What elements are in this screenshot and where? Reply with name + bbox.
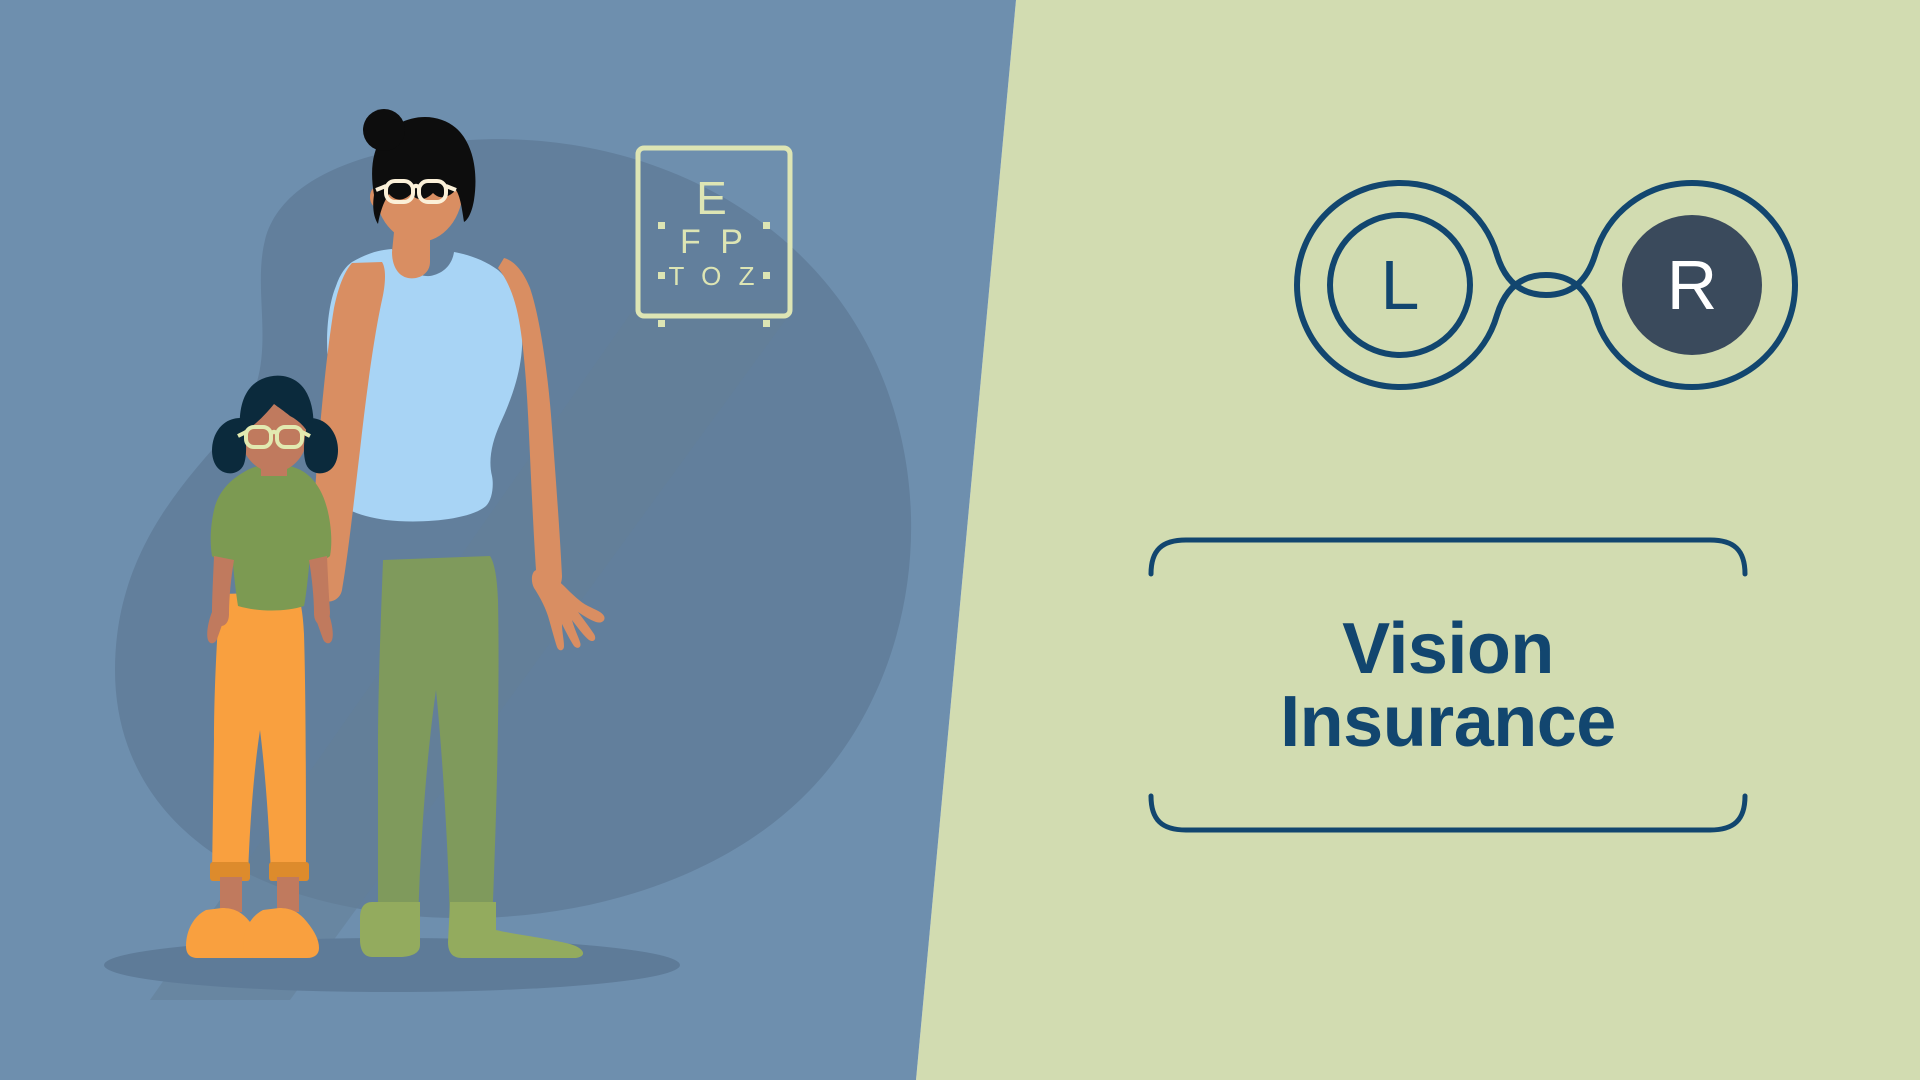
title-line-2: Insurance bbox=[1280, 686, 1616, 759]
left-lens-label: L bbox=[1381, 246, 1420, 324]
right-lens-label: R bbox=[1667, 246, 1718, 324]
adult-hair-bun bbox=[363, 109, 405, 151]
child-ankle-left bbox=[220, 877, 242, 912]
eye-chart-row-1: E bbox=[696, 175, 732, 221]
title-block: Vision Insurance bbox=[1148, 538, 1748, 834]
adult-shoe-left bbox=[360, 902, 420, 957]
eye-chart-row-3: T O Z bbox=[669, 263, 760, 289]
chart-dot bbox=[658, 320, 665, 327]
chart-dot bbox=[763, 320, 770, 327]
poster-canvas: L R Vision Insurance E F P T O Z bbox=[0, 0, 1920, 1080]
child-ankle-right bbox=[277, 877, 299, 912]
title-line-1: Vision bbox=[1342, 613, 1554, 686]
eye-chart-row-2: F P bbox=[680, 225, 748, 259]
eye-chart-letters: E F P T O Z bbox=[638, 148, 790, 316]
page-title: Vision Insurance bbox=[1148, 538, 1748, 834]
